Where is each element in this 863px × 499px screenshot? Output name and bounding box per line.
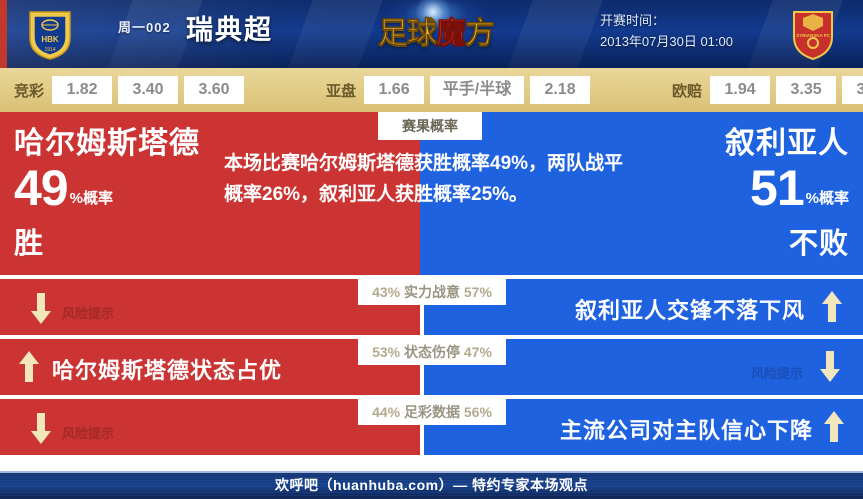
header-diagonal-3 xyxy=(496,0,613,68)
comparison-row: 43% 实力战意 57% 风险提示 叙利亚人交锋不落下风 xyxy=(0,279,863,335)
infographic-root: HBK 1914 周一002 瑞典超 足球魔方 开赛时间： 2013年07月30… xyxy=(0,0,863,499)
row-away-text: 主流公司对主队信心下降 xyxy=(560,413,813,445)
odds-cell-away[interactable]: 3.60 xyxy=(184,76,244,104)
arrow-up-icon xyxy=(821,290,843,324)
row-away-text: 叙利亚人交锋不落下风 xyxy=(575,293,805,325)
svg-text:HBK: HBK xyxy=(41,35,59,44)
result-probability-badge: 赛果概率 xyxy=(378,112,482,140)
home-percent-suffix: %概率 xyxy=(70,190,113,207)
svg-text:SYRIANSKA FC: SYRIANSKA FC xyxy=(796,33,830,38)
away-verdict: 不败 xyxy=(619,225,849,263)
row-metric-badge: 53% 状态伤停 47% xyxy=(358,339,506,365)
kickoff-label: 开赛时间： xyxy=(600,10,780,31)
kickoff-time-block: 开赛时间： 2013年07月30日 01:00 xyxy=(600,10,780,52)
away-percent-line: 51%概率 xyxy=(619,162,849,225)
odds-group-title: 竞彩 xyxy=(14,80,44,101)
kickoff-value: 2013年07月30日 01:00 xyxy=(600,31,780,52)
syrianska-crest-icon: SYRIANSKA FC xyxy=(785,6,841,62)
odds-cell-handicap[interactable]: 平手/半球 xyxy=(430,76,524,104)
home-percent-value: 49 xyxy=(14,160,68,216)
arrow-up-icon xyxy=(18,350,40,384)
brand-text-part2: 方 xyxy=(465,17,494,50)
arrow-down-icon xyxy=(30,293,52,327)
odds-cell-away[interactable]: 2.18 xyxy=(530,76,590,104)
odds-cell-home[interactable]: 1.94 xyxy=(710,76,770,104)
away-percent-suffix: %概率 xyxy=(806,190,849,207)
probability-summary-text: 本场比赛哈尔姆斯塔德获胜概率49%，两队战平概率26%，叙利亚人获胜概率25%。 xyxy=(224,148,624,210)
row-home-percent: 43% xyxy=(372,284,400,300)
home-verdict: 胜 xyxy=(14,225,244,263)
row-metric-label: 足彩数据 xyxy=(404,404,460,420)
league-name: 瑞典超 xyxy=(186,8,273,47)
away-team-name: 叙利亚人 xyxy=(619,126,849,162)
row-away-percent: 47% xyxy=(464,344,492,360)
odds-cell-home[interactable]: 1.66 xyxy=(364,76,424,104)
odds-group-title: 亚盘 xyxy=(326,80,356,101)
footer-text: 欢呼吧（huanhuba.com）— 特约专家本场观点 xyxy=(275,477,588,493)
brand-text-mo: 魔 xyxy=(436,17,465,50)
row-away-percent: 56% xyxy=(464,404,492,420)
brand-text-part1: 足球 xyxy=(378,17,436,50)
odds-group-yapan: 亚盘 1.66 平手/半球 2.18 xyxy=(326,76,596,104)
odds-cell-away[interactable]: 3.66 xyxy=(842,76,863,104)
row-home-text: 哈尔姆斯塔德状态占优 xyxy=(52,353,282,385)
probability-panel: 哈尔姆斯塔德 49%概率 胜 叙利亚人 51%概率 不败 赛果概率 本场比赛哈尔… xyxy=(0,112,863,275)
comparison-row: 44% 足彩数据 56% 风险提示 主流公司对主队信心下降 xyxy=(0,399,863,455)
row-away-percent: 57% xyxy=(464,284,492,300)
away-percent-value: 51 xyxy=(750,160,804,216)
halmstad-crest-icon: HBK 1914 xyxy=(22,6,78,62)
row-home-percent: 44% xyxy=(372,404,400,420)
header-left-red-edge xyxy=(0,0,7,68)
row-home-text: 风险提示 xyxy=(62,423,114,442)
row-metric-label: 状态伤停 xyxy=(404,344,460,360)
odds-group-oupei: 欧赔 1.94 3.35 3.66 xyxy=(672,76,863,104)
row-metric-label: 实力战意 xyxy=(404,284,460,300)
row-metric-badge: 44% 足彩数据 56% xyxy=(358,399,506,425)
svg-text:1914: 1914 xyxy=(44,47,55,53)
odds-group-title: 欧赔 xyxy=(672,80,702,101)
odds-cell-draw[interactable]: 3.40 xyxy=(118,76,178,104)
home-team-name: 哈尔姆斯塔德 xyxy=(14,126,244,162)
footer-bar: 欢呼吧（huanhuba.com）— 特约专家本场观点 xyxy=(0,471,863,499)
row-metric-badge: 43% 实力战意 57% xyxy=(358,279,506,305)
home-percent-line: 49%概率 xyxy=(14,162,244,225)
odds-bar: 竞彩 1.82 3.40 3.60 亚盘 1.66 平手/半球 2.18 欧赔 … xyxy=(0,68,863,112)
row-home-percent: 53% xyxy=(372,344,400,360)
arrow-down-icon xyxy=(819,351,841,385)
site-brand-logo: 足球魔方 xyxy=(378,12,496,56)
odds-cell-home[interactable]: 1.82 xyxy=(52,76,112,104)
away-probability-block: 叙利亚人 51%概率 不败 xyxy=(619,126,849,263)
row-away-text: 风险提示 xyxy=(751,363,803,382)
header-bar: HBK 1914 周一002 瑞典超 足球魔方 开赛时间： 2013年07月30… xyxy=(0,0,863,68)
odds-group-jingcai: 竞彩 1.82 3.40 3.60 xyxy=(14,76,250,104)
arrow-down-icon xyxy=(30,413,52,447)
row-home-text: 风险提示 xyxy=(62,303,114,322)
home-probability-block: 哈尔姆斯塔德 49%概率 胜 xyxy=(14,126,244,263)
arrow-up-icon xyxy=(823,410,845,444)
comparison-row: 53% 状态伤停 47% 哈尔姆斯塔德状态占优 风险提示 xyxy=(0,339,863,395)
odds-cell-draw[interactable]: 3.35 xyxy=(776,76,836,104)
footer-top-divider xyxy=(0,471,863,473)
match-round-label: 周一002 xyxy=(118,17,171,36)
